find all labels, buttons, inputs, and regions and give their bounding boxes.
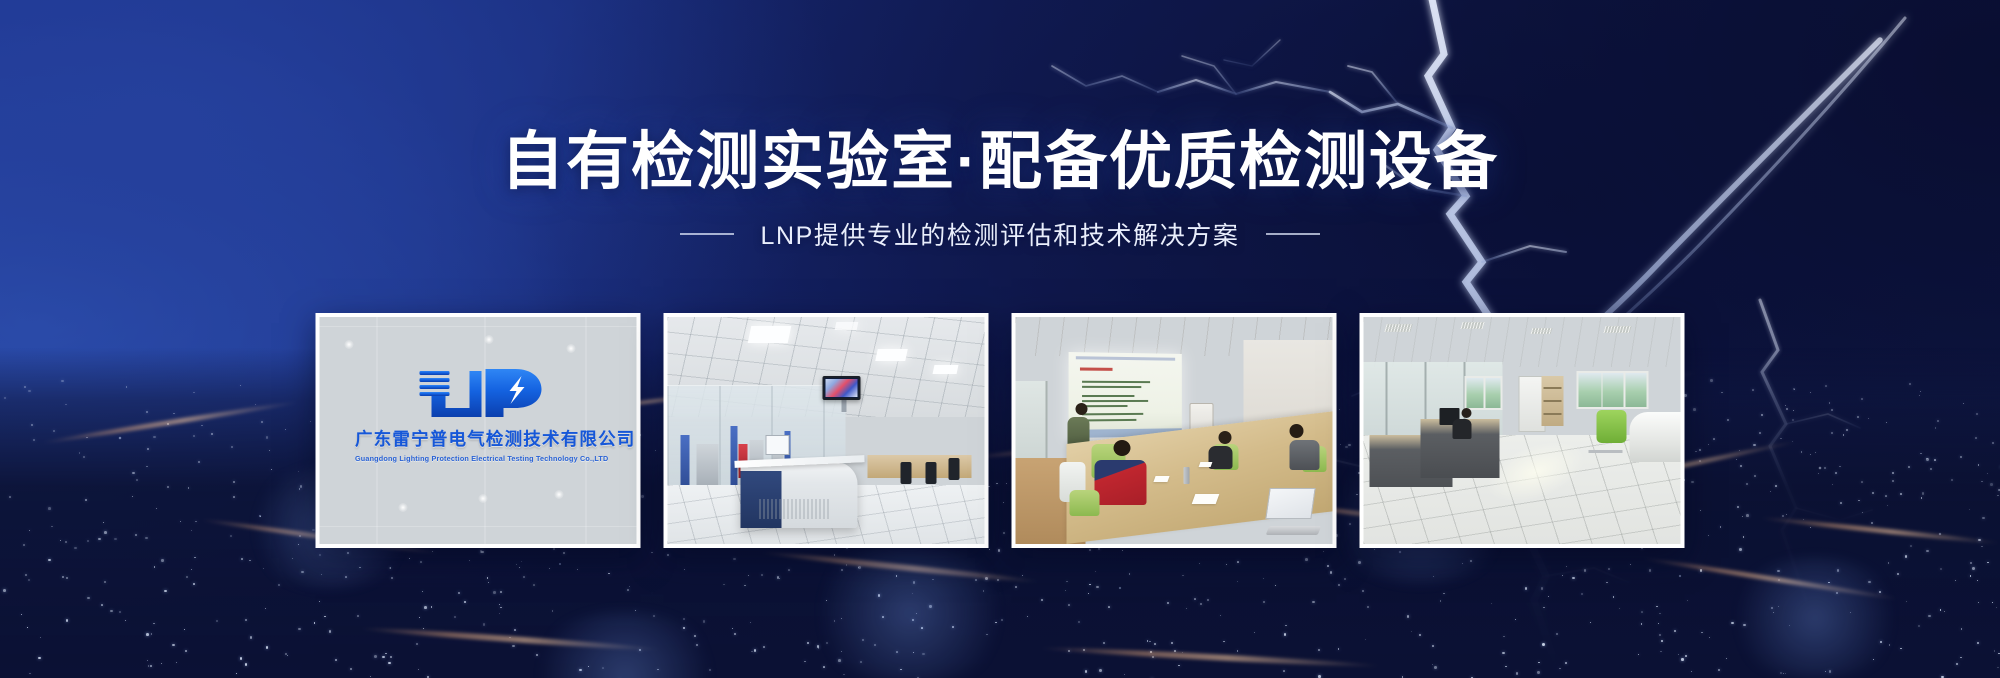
subtitle-row: LNP提供专业的检测评估和技术解决方案 bbox=[0, 216, 2000, 252]
wall-monitor-icon bbox=[823, 376, 861, 400]
gallery-card-company-logo-wall[interactable]: 广东雷宁普电气检测技术有限公司 Guangdong Lighting Prote… bbox=[316, 313, 641, 548]
photo-company-logo-wall: 广东雷宁普电气检测技术有限公司 Guangdong Lighting Prote… bbox=[320, 317, 637, 544]
page-subtitle: LNP提供专业的检测评估和技术解决方案 bbox=[760, 216, 1239, 252]
laptop-icon bbox=[1265, 488, 1315, 519]
headline-block: 自有检测实验室·配备优质检测设备 LNP提供专业的检测评估和技术解决方案 bbox=[0, 128, 2000, 252]
gallery-card-meeting-training-room[interactable] bbox=[1012, 313, 1337, 548]
gallery-card-office-area[interactable] bbox=[1360, 313, 1685, 548]
company-name-en: Guangdong Lighting Protection Electrical… bbox=[355, 454, 601, 463]
subtitle-dash-right bbox=[1266, 233, 1320, 235]
gallery-strip: 广东雷宁普电气检测技术有限公司 Guangdong Lighting Prote… bbox=[316, 313, 1685, 548]
company-name-cn: 广东雷宁普电气检测技术有限公司 bbox=[355, 426, 601, 451]
subtitle-dash-left bbox=[680, 233, 734, 235]
photo-testing-laboratory bbox=[668, 317, 985, 544]
hero-banner: 自有检测实验室·配备优质检测设备 LNP提供专业的检测评估和技术解决方案 bbox=[0, 0, 2000, 678]
page-title: 自有检测实验室·配备优质检测设备 bbox=[0, 128, 2000, 196]
lnp-logo-icon bbox=[411, 361, 545, 419]
company-logo: 广东雷宁普电气检测技术有限公司 Guangdong Lighting Prote… bbox=[355, 361, 601, 463]
gallery-card-testing-laboratory[interactable] bbox=[664, 313, 989, 548]
photo-office-area bbox=[1364, 317, 1681, 544]
photo-meeting-training-room bbox=[1016, 317, 1333, 544]
